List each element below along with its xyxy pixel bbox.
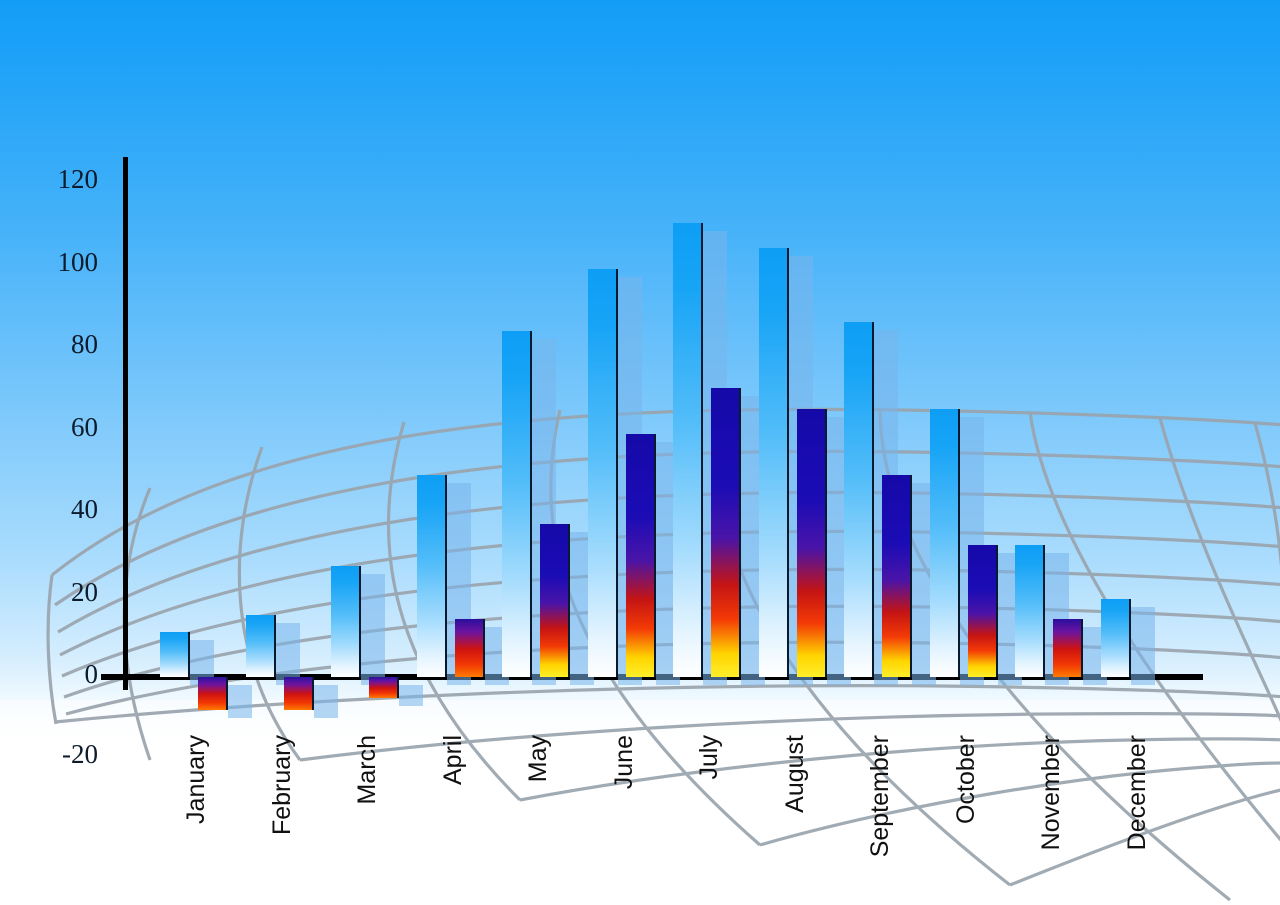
bar-series1[interactable] (246, 615, 276, 677)
bar-face (369, 677, 399, 698)
bar-face (759, 248, 789, 677)
x-axis-label-october: October (952, 735, 981, 824)
bar-face (284, 677, 314, 710)
bar-face (455, 619, 485, 677)
x-axis-label-january: January (182, 735, 211, 824)
x-axis-label-august: August (781, 735, 810, 813)
bar-series1[interactable] (502, 331, 532, 678)
x-axis-label-may: May (524, 735, 553, 782)
bar-series2[interactable] (369, 677, 399, 698)
y-tick-label: -20 (28, 739, 98, 770)
bar-shadow-series2 (228, 685, 252, 718)
y-tick-label: 20 (28, 577, 98, 608)
bar-face (711, 388, 741, 677)
bar-series1[interactable] (673, 223, 703, 677)
bar-series2[interactable] (284, 677, 314, 710)
x-axis-label-november: November (1037, 735, 1066, 850)
bar-face (1053, 619, 1083, 677)
bar-face (968, 545, 998, 677)
bar-series1[interactable] (588, 269, 618, 677)
bar-face (1015, 545, 1045, 677)
bar-face (882, 475, 912, 677)
bar-face (417, 475, 447, 677)
x-axis-label-march: March (353, 735, 382, 804)
bar-face (930, 409, 960, 677)
chart-canvas: -20020406080100120 JanuaryFebruaryMarchA… (0, 0, 1280, 905)
bar-face (331, 566, 361, 677)
bar-face (673, 223, 703, 677)
bar-face (844, 322, 874, 677)
bar-face (626, 434, 656, 677)
bar-face (1101, 599, 1131, 677)
bar-series2[interactable] (711, 388, 741, 677)
bar-series1[interactable] (1015, 545, 1045, 677)
bar-shadow-series1 (1131, 607, 1155, 685)
bar-series2[interactable] (626, 434, 656, 677)
y-tick-label: 120 (28, 164, 98, 195)
y-tick-label: 0 (28, 659, 98, 690)
y-tick-label: 60 (28, 412, 98, 443)
bar-face (540, 524, 570, 677)
bar-face (502, 331, 532, 678)
y-tick-label: 100 (28, 247, 98, 278)
y-tick-mark (113, 675, 137, 680)
x-axis-label-february: February (268, 735, 297, 835)
bar-series1[interactable] (417, 475, 447, 677)
bar-series2[interactable] (198, 677, 228, 710)
bar-series1[interactable] (160, 632, 190, 677)
y-axis-line (123, 157, 128, 690)
bar-face (160, 632, 190, 677)
bar-face (198, 677, 228, 710)
bar-shadow-series2 (399, 685, 423, 706)
bar-shadow-series1 (276, 623, 300, 685)
x-axis-label-july: July (695, 735, 724, 779)
bar-shadow-series2 (314, 685, 338, 718)
x-axis-label-april: April (439, 735, 468, 785)
bar-series2[interactable] (540, 524, 570, 677)
x-axis-label-december: December (1123, 735, 1152, 850)
x-axis-label-june: June (610, 735, 639, 789)
y-tick-label: 40 (28, 494, 98, 525)
bar-series2[interactable] (1053, 619, 1083, 677)
x-axis-label-september: September (866, 735, 895, 857)
bar-series1[interactable] (759, 248, 789, 677)
bar-series1[interactable] (930, 409, 960, 677)
plot-area: -20020406080100120 JanuaryFebruaryMarchA… (0, 0, 1280, 905)
bar-series1[interactable] (1101, 599, 1131, 677)
bar-series1[interactable] (844, 322, 874, 677)
bar-series2[interactable] (797, 409, 827, 677)
bar-series2[interactable] (968, 545, 998, 677)
bar-shadow-series1 (361, 574, 385, 685)
bar-face (246, 615, 276, 677)
bar-series2[interactable] (882, 475, 912, 677)
bar-series2[interactable] (455, 619, 485, 677)
y-tick-label: 80 (28, 329, 98, 360)
bar-face (797, 409, 827, 677)
bar-series1[interactable] (331, 566, 361, 677)
bar-face (588, 269, 618, 677)
